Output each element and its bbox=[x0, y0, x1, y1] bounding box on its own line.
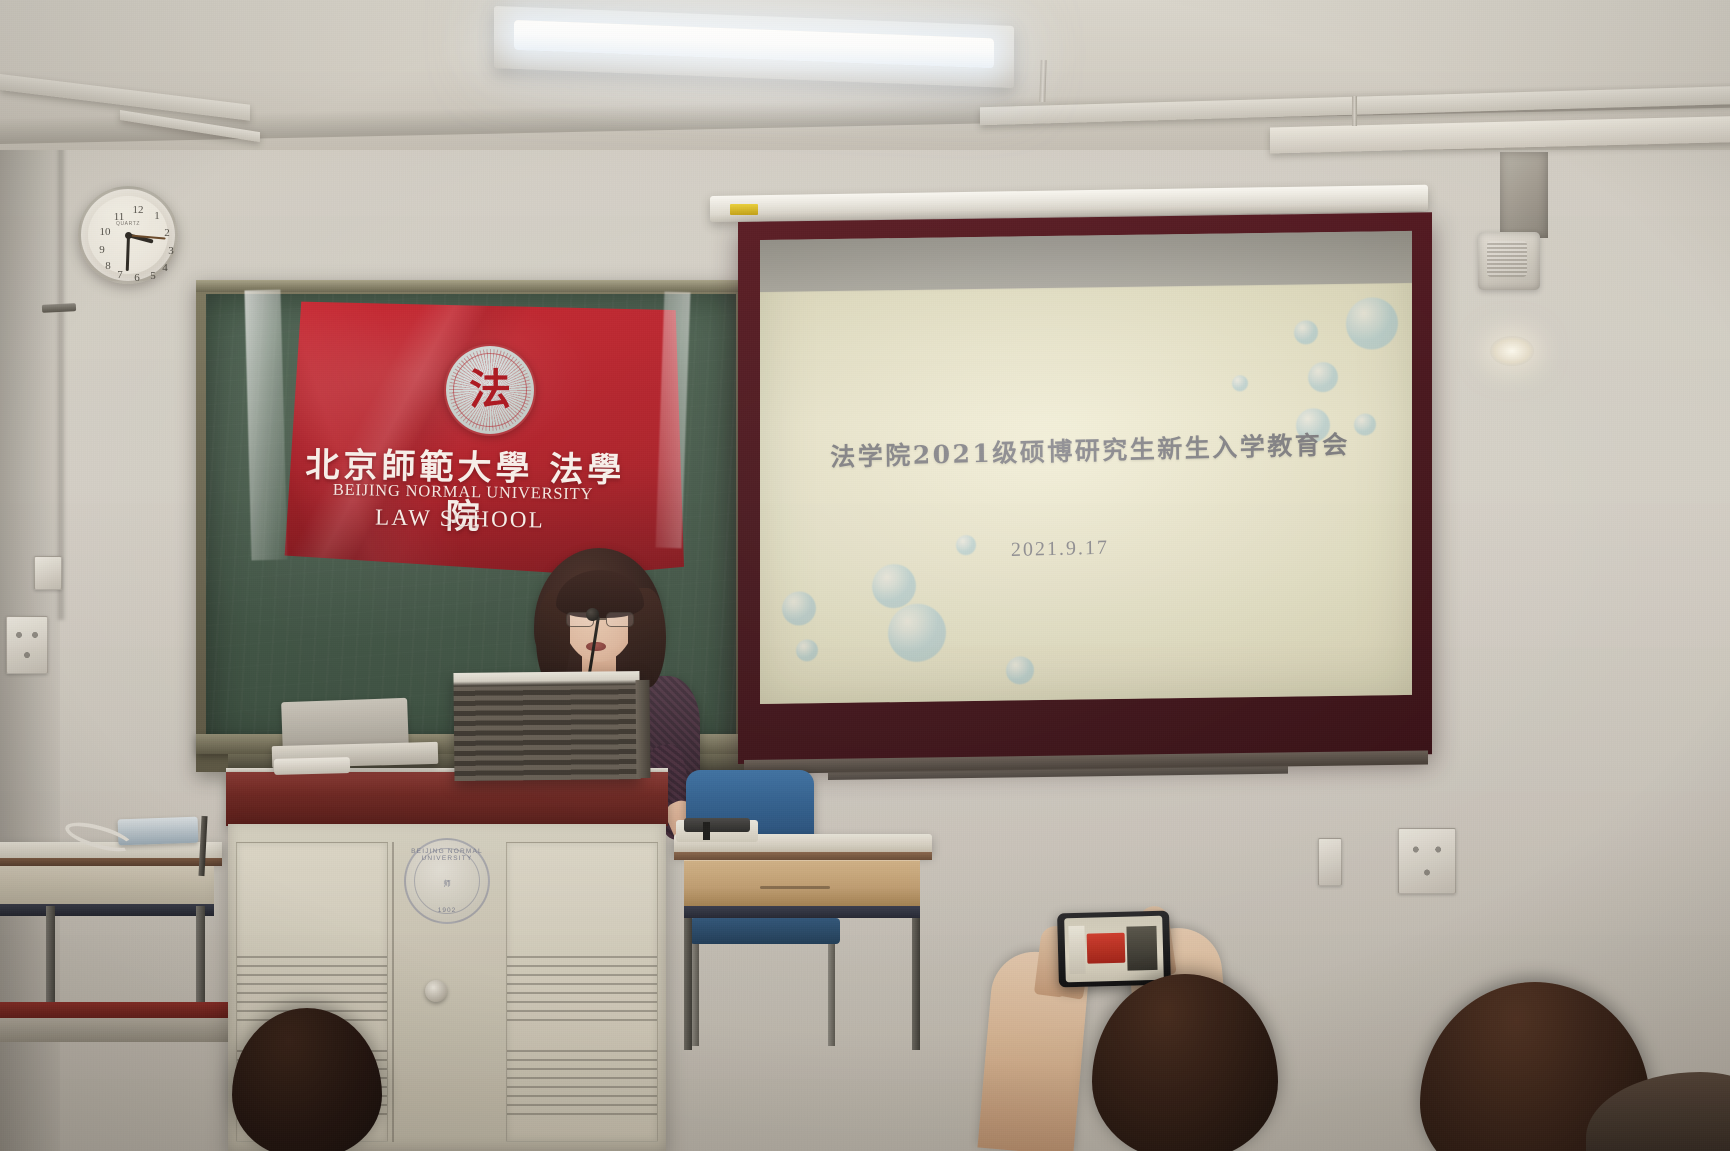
clock-numeral: 6 bbox=[130, 272, 144, 284]
podium-seal-mid-text: 师 bbox=[407, 878, 487, 889]
podium-seal-text-wrap: BEIJING NORMAL UNIVERSITY 师 1902 bbox=[407, 841, 487, 921]
outlet-sockets-icon-right bbox=[1399, 829, 1455, 893]
wall-outlet-plate-right[interactable] bbox=[1398, 828, 1456, 894]
seal-glyph-label: 法 bbox=[469, 369, 511, 411]
desk-tray-object-2 bbox=[703, 822, 710, 840]
clock-minute-hand bbox=[125, 235, 129, 271]
wall-speaker-icon bbox=[1478, 232, 1540, 290]
banner-plastic-wrap-left bbox=[244, 290, 287, 561]
ceiling-pipe-2 bbox=[1352, 96, 1357, 126]
mouse-pad bbox=[274, 757, 350, 775]
slide-bubble bbox=[1294, 320, 1318, 344]
clock-numeral: 9 bbox=[95, 244, 109, 256]
podium-seal-bottom-text: 1902 bbox=[407, 907, 487, 914]
clock-numeral: 5 bbox=[146, 270, 160, 282]
clock-numeral: 3 bbox=[164, 245, 178, 257]
ceiling-downlight-icon bbox=[1490, 336, 1534, 366]
slide-top-band bbox=[760, 231, 1412, 292]
clock-numeral: 1 bbox=[150, 210, 164, 222]
document-riser bbox=[453, 671, 640, 781]
slide-bubble bbox=[1232, 375, 1248, 391]
speaker-mouth bbox=[586, 642, 606, 651]
wall-switch-plate[interactable] bbox=[34, 556, 62, 590]
glasses-lens-right bbox=[606, 612, 634, 627]
wall-outlet-plate[interactable] bbox=[6, 616, 48, 674]
classroom-desk-edge bbox=[674, 852, 932, 860]
desk-drawer-handle[interactable] bbox=[760, 886, 830, 889]
slide-bubble bbox=[872, 564, 916, 609]
slide-bubble bbox=[1006, 656, 1034, 684]
microphone-icon bbox=[586, 608, 599, 621]
podium-university-seal-icon: BEIJING NORMAL UNIVERSITY 师 1902 bbox=[404, 838, 490, 924]
projector-screen-canvas: 法学院2021级硕博研究生新生入学教育会 2021.9.17 bbox=[760, 231, 1412, 704]
wall-switch-plate-right[interactable] bbox=[1318, 838, 1342, 886]
outlet-sockets-icon bbox=[7, 617, 47, 673]
phone-camera-preview[interactable] bbox=[1064, 916, 1164, 983]
wall-corner-box bbox=[1500, 152, 1548, 238]
slide-bubble bbox=[796, 639, 818, 661]
clock-numeral: 11 bbox=[112, 211, 126, 223]
riser-slats bbox=[454, 685, 641, 781]
clock-numeral: 12 bbox=[131, 204, 145, 216]
podium-panel-right bbox=[506, 842, 658, 1142]
floor-strip bbox=[0, 1018, 240, 1042]
clock-numeral: 8 bbox=[101, 260, 115, 272]
slide-title: 法学院2021级硕博研究生新生入学教育会 bbox=[800, 424, 1380, 474]
wall-clock-icon: QUARTZ 12 1 2 3 4 5 6 7 8 9 10 11 bbox=[78, 186, 178, 284]
side-table-rail bbox=[0, 904, 214, 916]
preview-red-banner-region bbox=[1087, 933, 1126, 964]
clock-numeral: 7 bbox=[113, 269, 127, 281]
side-table-edge bbox=[0, 858, 222, 866]
slide-bubble bbox=[782, 591, 816, 625]
desk-rail bbox=[684, 906, 920, 918]
clock-numeral: 10 bbox=[98, 226, 112, 238]
podium-seal-top-text: BEIJING NORMAL UNIVERSITY bbox=[407, 848, 487, 862]
preview-dark-region bbox=[1126, 926, 1157, 971]
smartphone-icon[interactable] bbox=[1057, 911, 1171, 988]
clock-face: QUARTZ 12 1 2 3 4 5 6 7 8 9 10 11 bbox=[88, 196, 168, 274]
podium-seam bbox=[392, 842, 394, 1142]
floor-baseboard-red bbox=[0, 1002, 240, 1018]
housing-warning-sticker bbox=[730, 204, 758, 215]
podium-top-band bbox=[226, 772, 668, 826]
podium-vent bbox=[507, 1049, 657, 1115]
slide-bubble bbox=[1308, 362, 1338, 392]
podium-knob[interactable] bbox=[425, 980, 447, 1002]
classroom-chair-seat[interactable] bbox=[690, 918, 840, 944]
slide-bubble bbox=[1346, 297, 1398, 350]
banner-english-line-2: LAW SCHOOL bbox=[300, 503, 620, 535]
slide-bubble bbox=[888, 603, 946, 662]
desk-tray-object bbox=[684, 818, 750, 832]
riser-side-panel bbox=[635, 680, 650, 778]
glasses-icon bbox=[564, 612, 636, 628]
preview-bright-region bbox=[1068, 926, 1085, 974]
clock-numeral: 4 bbox=[158, 262, 172, 274]
slide-date: 2021.9.17 bbox=[800, 531, 1320, 567]
podium-vent bbox=[507, 955, 657, 1021]
classroom-photo-scene: QUARTZ 12 1 2 3 4 5 6 7 8 9 10 11 bbox=[0, 0, 1730, 1151]
side-table-front bbox=[0, 866, 214, 908]
law-seal-icon: 法 bbox=[444, 344, 536, 436]
classroom-desk-front bbox=[684, 860, 920, 906]
clock-center-pin bbox=[125, 232, 132, 239]
